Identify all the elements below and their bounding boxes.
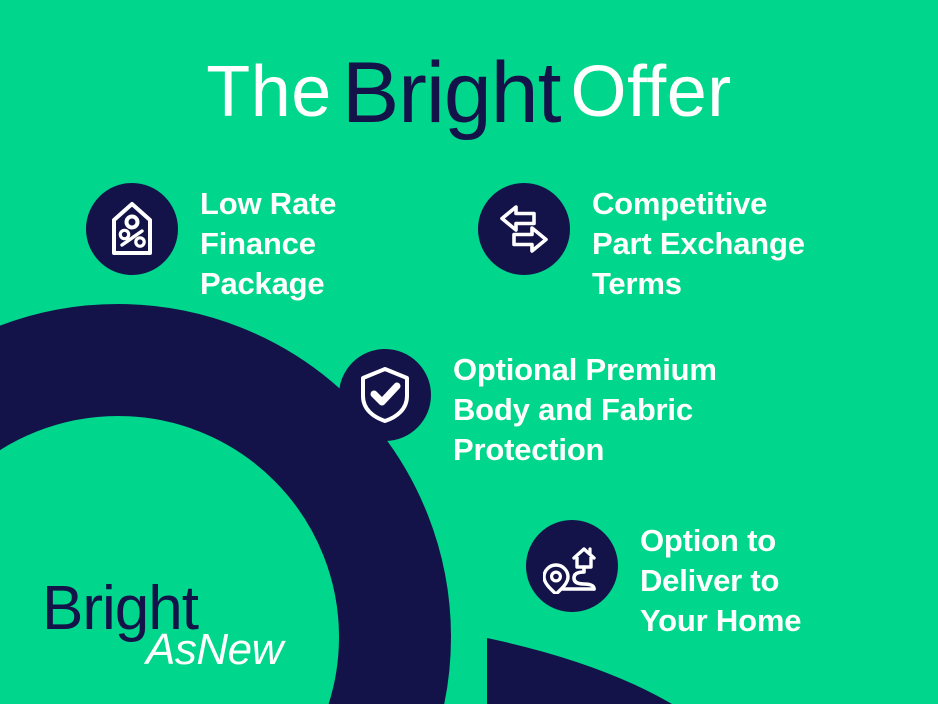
page-title: TheBrightOffer	[0, 44, 938, 130]
feature-low-rate-finance: Low Rate Finance Package	[86, 183, 336, 304]
feature-part-exchange: Competitive Part Exchange Terms	[478, 183, 805, 304]
title-brand: Bright	[332, 50, 571, 136]
feature-icon-wrapper	[526, 520, 618, 612]
feature-icon-wrapper	[478, 183, 570, 275]
feature-label: Optional Premium Body and Fabric Protect…	[453, 349, 717, 470]
map-pin-route-home-icon	[543, 538, 601, 594]
logo-secondary-text: AsNew	[146, 628, 283, 672]
shield-check-icon	[359, 366, 411, 424]
price-tag-percent-icon	[106, 201, 158, 257]
title-prefix: The	[206, 56, 332, 128]
feature-label: Low Rate Finance Package	[200, 183, 336, 304]
poster-canvas: TheBrightOffer Low Rate Finance Package …	[0, 0, 938, 704]
brand-logo: Bright AsNew	[42, 578, 302, 688]
feature-icon-wrapper	[86, 183, 178, 275]
feature-label: Option to Deliver to Your Home	[640, 520, 801, 641]
feature-body-fabric-protection: Optional Premium Body and Fabric Protect…	[339, 349, 717, 470]
feature-home-delivery: Option to Deliver to Your Home	[526, 520, 801, 641]
title-suffix: Offer	[571, 56, 732, 128]
feature-icon-wrapper	[339, 349, 431, 441]
exchange-arrows-icon	[496, 201, 552, 257]
decorative-wedge	[487, 638, 672, 704]
feature-label: Competitive Part Exchange Terms	[592, 183, 805, 304]
